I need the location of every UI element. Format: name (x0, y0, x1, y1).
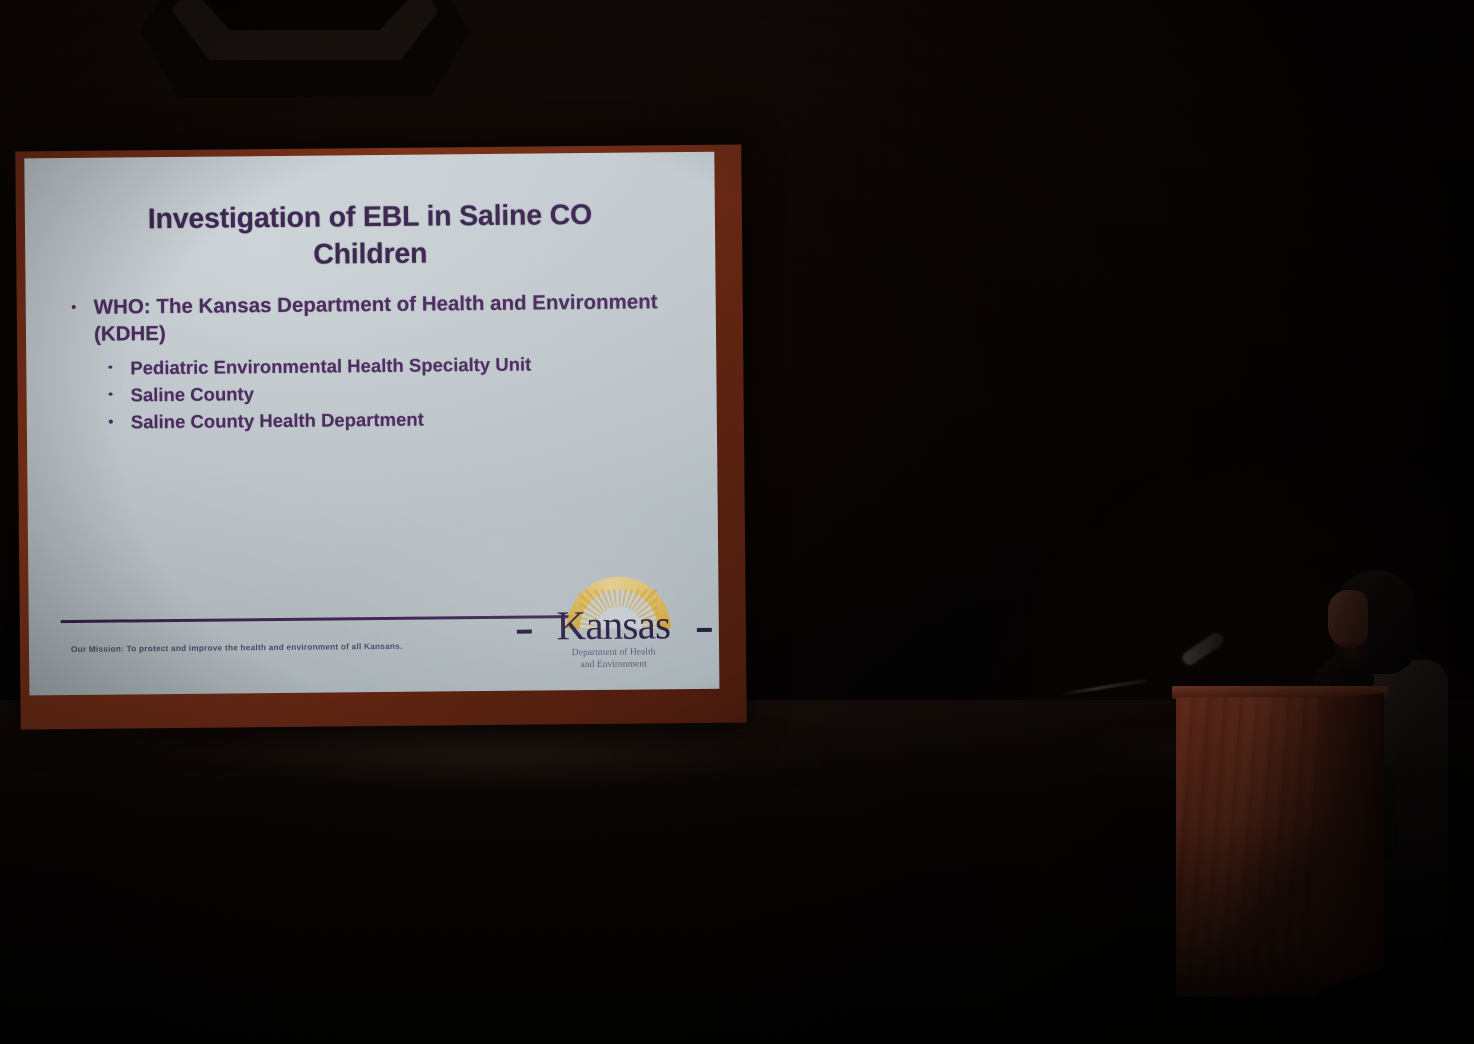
podium (1176, 686, 1384, 1006)
kdhe-logo: Kansas Department of Health and Environm… (520, 576, 706, 674)
microphone-head (1180, 630, 1226, 667)
ceiling-truss-core (198, 0, 412, 30)
bullet-level2-saline-county-health-dept: Saline County Health Department (103, 403, 685, 436)
logo-subtitle-line-2: and Environment (527, 657, 700, 670)
bullet-level1-text: WHO: The Kansas Department of Health and… (94, 290, 658, 346)
bullet-level2-text: Pediatric Environmental Health Specialty… (130, 353, 531, 378)
sub-bullet-list: Pediatric Environmental Health Specialty… (64, 349, 685, 437)
bullet-level2-text: Saline County Health Department (131, 409, 424, 433)
slide-body: WHO: The Kansas Department of Health and… (64, 288, 685, 436)
slide-title: Investigation of EBL in Saline CO Childr… (65, 196, 676, 276)
presentation-slide: Investigation of EBL in Saline CO Childr… (24, 152, 719, 696)
presenter-chin-shadow (1336, 642, 1370, 670)
slide-mission-statement: Our Mission: To protect and improve the … (71, 640, 541, 654)
projection-screen-frame: Investigation of EBL in Saline CO Childr… (15, 145, 747, 730)
bullet-dot-icon (109, 420, 113, 424)
podium-front-panel (1176, 697, 1318, 997)
bullet-dot-icon (109, 392, 113, 396)
logo-wordmark: Kansas (527, 604, 700, 647)
bullet-dot-icon (72, 305, 76, 309)
slide-footer-divider (61, 615, 571, 622)
slide-title-line-1: Investigation of EBL in Saline CO (65, 196, 675, 239)
presenter-face (1328, 590, 1368, 648)
microphone-boom-arm (1060, 679, 1145, 695)
bullet-level2-text: Saline County (130, 383, 254, 405)
presentation-photo-scene: Investigation of EBL in Saline CO Childr… (0, 0, 1474, 1044)
floor-light-patch-left (160, 722, 820, 788)
podium-side-panel (1318, 693, 1384, 989)
logo-subtitle: Department of Health and Environment (527, 646, 700, 671)
bullet-dot-icon (108, 365, 112, 369)
bullet-level1-who: WHO: The Kansas Department of Health and… (64, 288, 684, 349)
slide-title-line-2: Children (65, 233, 675, 276)
